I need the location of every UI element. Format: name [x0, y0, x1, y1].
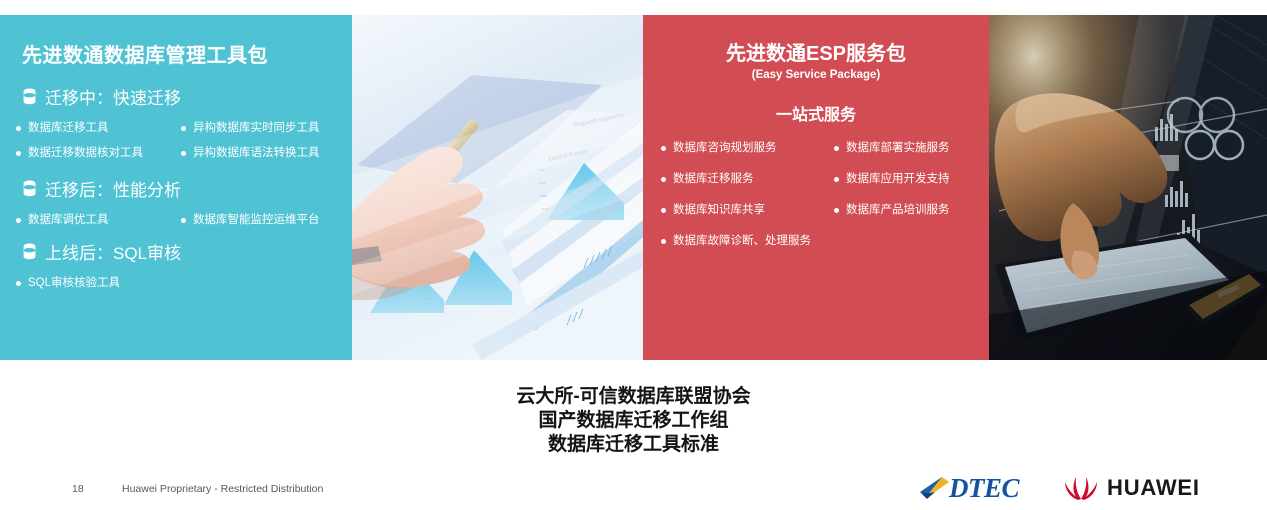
list-item-label: 数据库应用开发支持 — [846, 172, 950, 186]
charts-and-hand-photo: Regional segments Central Europe East Eu… — [352, 15, 643, 360]
huawei-flower-icon — [1063, 475, 1099, 501]
database-icon — [22, 180, 37, 197]
list-item-label: 数据库调优工具 — [28, 213, 109, 227]
esp-panel-title: 先进数通ESP服务包 — [643, 37, 989, 66]
caption-line-1: 云大所-可信数据库联盟协会 — [0, 385, 1267, 409]
list-item: 数据库知识库共享 — [659, 203, 832, 217]
bullet-dot-icon — [16, 126, 21, 131]
toolkit-panel-title: 先进数通数据库管理工具包 — [22, 39, 342, 68]
caption-line-2: 国产数据库迁移工作组 — [0, 409, 1267, 433]
list-item: 数据库调优工具 — [14, 213, 179, 227]
toolkit-bullets-migration: 数据库迁移工具 异构数据库实时同步工具 数据迁移数据核对工具 异构数据库语法转换… — [14, 121, 342, 160]
bullet-dot-icon — [834, 208, 839, 213]
esp-service-list: 数据库咨询规划服务 数据库部署实施服务 数据库迁移服务 数据库应用开发支持 数据… — [659, 141, 989, 248]
database-icon — [22, 243, 37, 260]
bullet-dot-icon — [661, 177, 666, 182]
list-item: SQL审核核验工具 — [14, 276, 342, 290]
list-item: 异构数据库实时同步工具 — [179, 121, 342, 135]
section-heading-sql-audit-label: 上线后：SQL审核 — [45, 239, 181, 264]
tablet-touch-photo-graphic — [989, 15, 1267, 360]
toolkit-bullets-sql-audit: SQL审核核验工具 — [14, 276, 342, 290]
dtec-logo-text: DTEC — [949, 473, 1019, 504]
list-item: 数据库迁移工具 — [14, 121, 179, 135]
section-heading-migration-label: 迁移中：快速迁移 — [45, 84, 181, 109]
list-item-label: 数据库部署实施服务 — [846, 141, 950, 155]
list-item-label: SQL审核核验工具 — [28, 276, 120, 290]
list-item: 数据库故障诊断、处理服务 — [659, 234, 989, 248]
bullet-dot-icon — [16, 151, 21, 156]
huawei-logo: HUAWEI — [1063, 474, 1200, 502]
list-item-label: 数据库迁移工具 — [28, 121, 109, 135]
list-item-label: 数据库咨询规划服务 — [673, 141, 777, 155]
bullet-dot-icon — [16, 281, 21, 286]
list-item: 数据库智能监控运维平台 — [179, 213, 342, 227]
huawei-logo-text: HUAWEI — [1107, 475, 1200, 501]
section-heading-migration: 迁移中：快速迁移 — [22, 84, 342, 109]
esp-panel: 先进数通ESP服务包 (Easy Service Package) 一站式服务 … — [643, 15, 989, 360]
list-item: 异构数据库语法转换工具 — [179, 146, 342, 160]
list-item: 数据库应用开发支持 — [832, 172, 989, 186]
caption-line-3: 数据库迁移工具标准 — [0, 433, 1267, 457]
list-item-label: 异构数据库实时同步工具 — [193, 121, 320, 135]
dtec-arrow-icon — [918, 475, 952, 501]
esp-panel-band: 一站式服务 — [643, 101, 989, 125]
list-item-label: 数据库产品培训服务 — [846, 203, 950, 217]
caption-block: 云大所-可信数据库联盟协会 国产数据库迁移工作组 数据库迁移工具标准 — [0, 385, 1267, 457]
bullet-dot-icon — [661, 146, 666, 151]
section-heading-performance: 迁移后：性能分析 — [22, 176, 342, 201]
list-item: 数据迁移数据核对工具 — [14, 146, 179, 160]
bullet-dot-icon — [834, 146, 839, 151]
dtec-logo: DTEC — [918, 472, 1019, 504]
section-heading-performance-label: 迁移后：性能分析 — [45, 176, 181, 201]
list-item: 数据库咨询规划服务 — [659, 141, 832, 155]
bullet-dot-icon — [834, 177, 839, 182]
esp-panel-subtitle: (Easy Service Package) — [643, 69, 989, 81]
bullet-dot-icon — [181, 126, 186, 131]
list-item: 数据库部署实施服务 — [832, 141, 989, 155]
bullet-dot-icon — [181, 218, 186, 223]
list-item-label: 数据库知识库共享 — [673, 203, 765, 217]
bullet-dot-icon — [181, 151, 186, 156]
section-heading-sql-audit: 上线后：SQL审核 — [22, 239, 342, 264]
tablet-touch-photo — [989, 15, 1267, 360]
toolkit-bullets-performance: 数据库调优工具 数据库智能监控运维平台 — [14, 213, 342, 227]
list-item-label: 数据迁移数据核对工具 — [28, 146, 143, 160]
list-item: 数据库迁移服务 — [659, 172, 832, 186]
content-band: 先进数通数据库管理工具包 迁移中：快速迁移 数据库迁移工具 异构数据库实时同步工… — [0, 15, 1267, 360]
database-icon — [22, 88, 37, 105]
list-item: 数据库产品培训服务 — [832, 203, 989, 217]
bullet-dot-icon — [16, 218, 21, 223]
bullet-dot-icon — [661, 208, 666, 213]
bullet-dot-icon — [661, 239, 666, 244]
list-item-label: 数据库迁移服务 — [673, 172, 754, 186]
list-item-label: 数据库故障诊断、处理服务 — [673, 234, 811, 248]
confidentiality-notice: Huawei Proprietary - Restricted Distribu… — [122, 483, 323, 495]
charts-and-hand-photo-graphic: Regional segments Central Europe East Eu… — [352, 15, 643, 360]
list-item-label: 数据库智能监控运维平台 — [193, 213, 320, 227]
page-number: 18 — [72, 483, 84, 495]
toolkit-panel: 先进数通数据库管理工具包 迁移中：快速迁移 数据库迁移工具 异构数据库实时同步工… — [0, 15, 352, 360]
list-item-label: 异构数据库语法转换工具 — [193, 146, 320, 160]
